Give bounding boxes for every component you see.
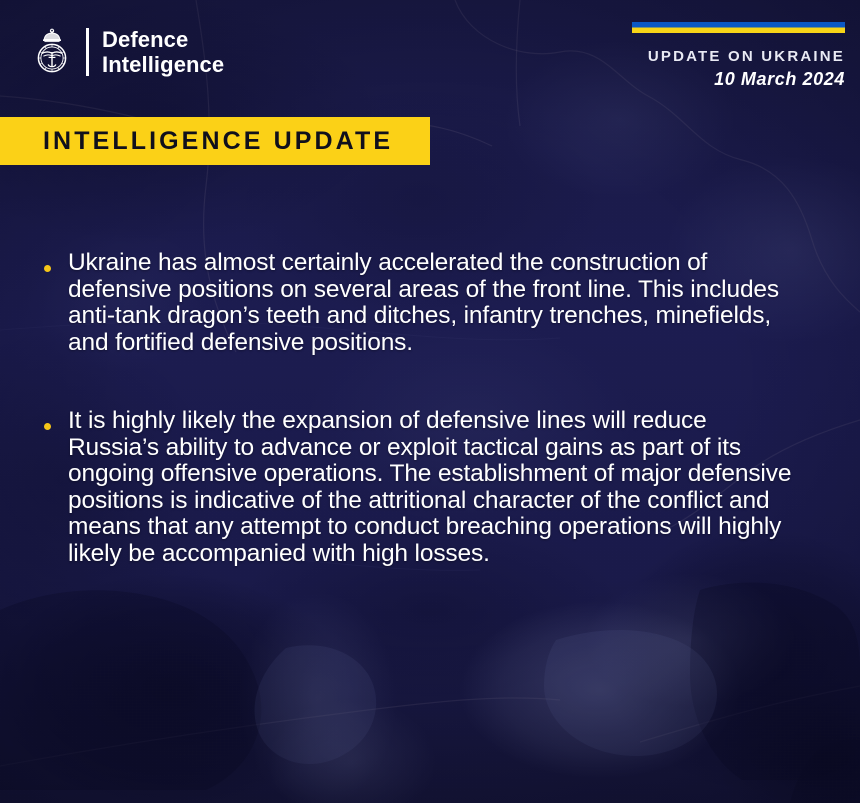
- intelligence-update-banner: INTELLIGENCE UPDATE: [0, 117, 430, 165]
- bullet-dot-icon: [44, 423, 51, 430]
- bullet-list: Ukraine has almost certainly accelerated…: [0, 250, 800, 619]
- list-item: It is highly likely the expansion of def…: [0, 408, 800, 567]
- bullet-dot-icon: [44, 265, 51, 272]
- poster-header: Defence Intelligence UPDATE ON UKRAINE 1…: [0, 0, 860, 117]
- defence-intelligence-brand: Defence Intelligence: [30, 26, 224, 78]
- ukraine-flag-bar-icon: [632, 22, 845, 33]
- bullet-text: Ukraine has almost certainly accelerated…: [68, 250, 800, 356]
- brand-divider: [86, 28, 89, 76]
- brand-name: Defence Intelligence: [102, 27, 224, 77]
- update-meta-block: UPDATE ON UKRAINE 10 March 2024: [632, 22, 845, 90]
- banner-label: INTELLIGENCE UPDATE: [0, 127, 393, 156]
- bullet-text: It is highly likely the expansion of def…: [68, 408, 800, 567]
- intelligence-update-poster: Defence Intelligence UPDATE ON UKRAINE 1…: [0, 0, 860, 803]
- list-item: Ukraine has almost certainly accelerated…: [0, 250, 800, 356]
- update-date: 10 March 2024: [632, 68, 845, 90]
- update-title: UPDATE ON UKRAINE: [632, 47, 845, 66]
- royal-crown-crest-icon: [30, 26, 74, 78]
